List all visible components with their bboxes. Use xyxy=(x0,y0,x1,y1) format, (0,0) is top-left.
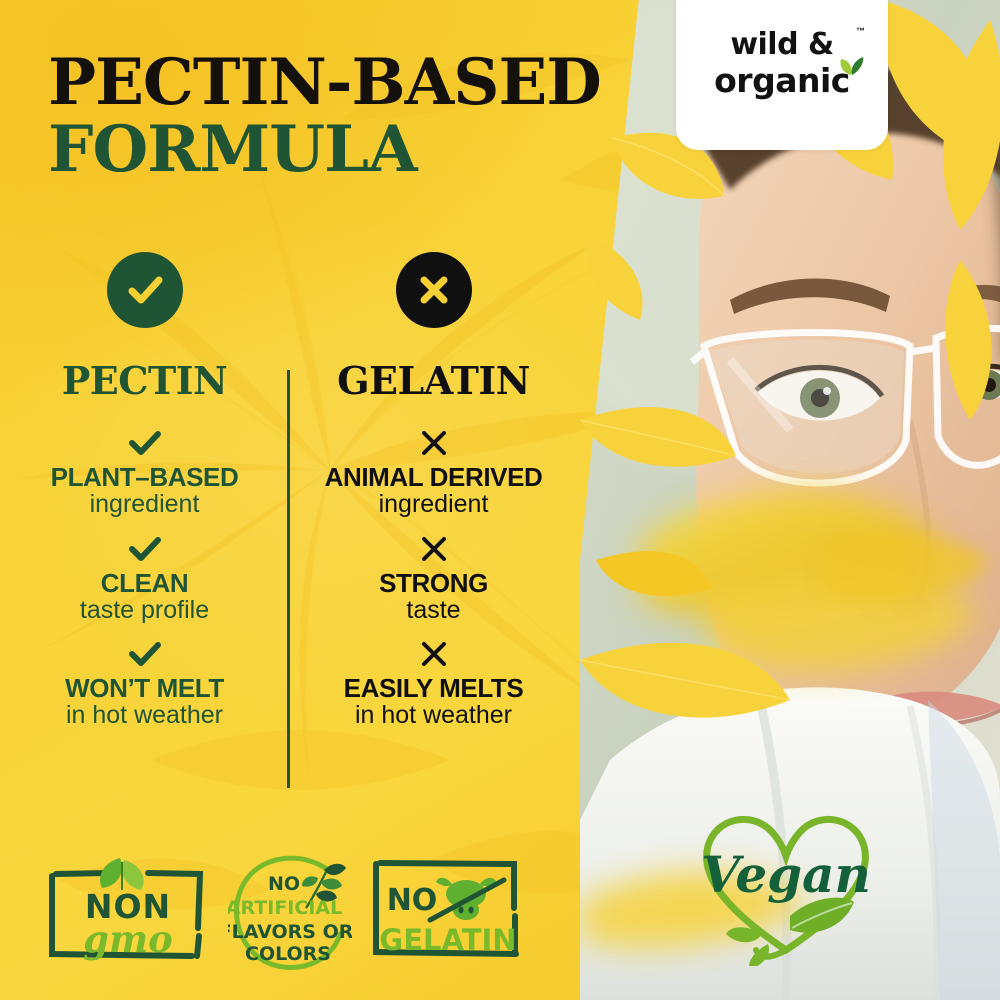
check-icon xyxy=(0,533,289,565)
list-item: ANIMAL DERIVED ingredient xyxy=(289,427,578,519)
seal-text-flavors-or: FLAVORS OR xyxy=(228,921,352,943)
pectin-benefit-list: PLANT–BASED ingredient CLEAN taste profi… xyxy=(0,427,289,730)
seal-non-gmo: NON gmo xyxy=(42,856,214,968)
vegan-seal: Vegan xyxy=(686,798,886,966)
list-item: EASILY MELTS in hot weather xyxy=(289,638,578,730)
vegan-label: Vegan xyxy=(701,845,871,904)
comparison-column-pectin: PECTIN PLANT–BASED ingredient xyxy=(0,252,289,792)
list-item-primary: CLEAN xyxy=(0,569,289,597)
seal-text-no: NO xyxy=(387,883,438,918)
list-item: STRONG taste xyxy=(289,533,578,625)
list-item-secondary: in hot weather xyxy=(0,702,289,730)
list-item-primary: WON’T MELT xyxy=(0,674,289,702)
x-icon xyxy=(289,638,578,670)
page-title: PECTIN-BASED FORMULA xyxy=(48,52,648,181)
seal-text-gmo: gmo xyxy=(83,917,173,961)
seal-no-gelatin: NO GELATIN xyxy=(368,858,524,962)
list-item-secondary: ingredient xyxy=(0,491,289,519)
list-item-secondary: in hot weather xyxy=(289,702,578,730)
seal-text-artificial: ARTIFICIAL xyxy=(228,897,342,919)
seal-text-gelatin: GELATIN xyxy=(379,923,516,957)
infographic-canvas: ™ wild & organic PECTIN-BASED FORMULA xyxy=(0,0,1000,1000)
list-item-primary: STRONG xyxy=(289,569,578,597)
trademark-symbol: ™ xyxy=(856,26,865,36)
headline-line-1: PECTIN-BASED xyxy=(48,52,648,113)
check-circle-icon xyxy=(107,252,183,328)
list-item: PLANT–BASED ingredient xyxy=(0,427,289,519)
list-item-secondary: ingredient xyxy=(289,491,578,519)
list-item: WON’T MELT in hot weather xyxy=(0,638,289,730)
column-title-gelatin: GELATIN xyxy=(289,358,578,403)
list-item: CLEAN taste profile xyxy=(0,533,289,625)
list-item-primary: EASILY MELTS xyxy=(289,674,578,702)
seal-text-no: NO xyxy=(268,873,300,895)
list-item-primary: PLANT–BASED xyxy=(0,463,289,491)
headline-line-2: FORMULA xyxy=(48,119,648,180)
x-circle-icon xyxy=(396,252,472,328)
leaf-icon xyxy=(837,54,867,78)
check-icon xyxy=(0,427,289,459)
check-icon xyxy=(0,638,289,670)
no-cow-icon xyxy=(430,878,504,920)
seal-no-artificial: NO ARTIFICIAL FLAVORS OR COLORS xyxy=(228,850,352,974)
comparison-column-gelatin: GELATIN ANIMAL DERIVED ingredient xyxy=(289,252,578,792)
list-item-secondary: taste xyxy=(289,597,578,625)
gelatin-drawback-list: ANIMAL DERIVED ingredient STRONG taste xyxy=(289,427,578,730)
seal-text-colors: COLORS xyxy=(245,943,331,965)
certification-seals-row: NON gmo NO ARTIFICIAL FLAVORS OR xyxy=(0,848,578,978)
x-icon xyxy=(289,533,578,565)
column-title-pectin: PECTIN xyxy=(0,358,289,403)
x-icon xyxy=(289,427,578,459)
list-item-secondary: taste profile xyxy=(0,597,289,625)
comparison-section: PECTIN PLANT–BASED ingredient xyxy=(0,252,578,792)
brand-logo-card[interactable]: ™ wild & organic xyxy=(676,0,888,150)
list-item-primary: ANIMAL DERIVED xyxy=(289,463,578,491)
